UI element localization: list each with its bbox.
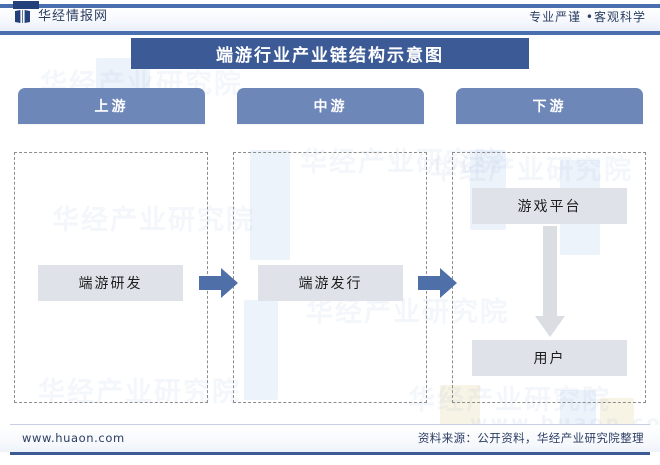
node-label: 端游研发 bbox=[79, 273, 143, 293]
header-divider bbox=[0, 31, 660, 35]
site-slogan: 专业严谨 •客观科学 bbox=[529, 10, 646, 25]
infographic-page: 华经产业研究院 华经产业研究院 华经产业研究院 华经产业研究院 华经产业研究院 … bbox=[0, 0, 660, 465]
node-user: 用户 bbox=[472, 340, 627, 376]
stage-label: 下游 bbox=[533, 96, 567, 116]
top-accent-tab bbox=[13, 1, 39, 9]
node-label: 用户 bbox=[534, 348, 566, 368]
chart-title-banner: 端游行业产业链结构示意图 bbox=[131, 38, 529, 69]
stage-header-upstream: 上游 bbox=[18, 88, 205, 124]
footer-source-note: 资料来源：公开资料，华经产业研究院整理 bbox=[418, 430, 644, 446]
open-book-icon bbox=[15, 10, 31, 24]
brand: 华经情报网 bbox=[15, 10, 108, 24]
node-label: 端游发行 bbox=[299, 273, 363, 293]
arrow-right-icon bbox=[199, 266, 239, 300]
node-game-platform: 游戏平台 bbox=[472, 188, 627, 224]
page-title: 端游行业产业链结构示意图 bbox=[216, 41, 444, 66]
stage-label: 上游 bbox=[95, 96, 129, 116]
arrow-down-icon bbox=[534, 226, 566, 338]
node-label: 游戏平台 bbox=[518, 196, 582, 216]
node-pc-game-rd: 端游研发 bbox=[38, 265, 183, 301]
brand-name: 华经情报网 bbox=[38, 10, 108, 24]
footer-url[interactable]: www.huaon.com bbox=[22, 431, 125, 445]
stage-header-downstream: 下游 bbox=[456, 88, 643, 124]
footer-divider bbox=[10, 452, 650, 455]
stage-label: 中游 bbox=[314, 96, 348, 116]
stage-header-midstream: 中游 bbox=[237, 88, 424, 124]
node-pc-game-publishing: 端游发行 bbox=[258, 265, 403, 301]
footer-top-divider bbox=[10, 424, 650, 425]
arrow-right-icon bbox=[418, 266, 458, 300]
